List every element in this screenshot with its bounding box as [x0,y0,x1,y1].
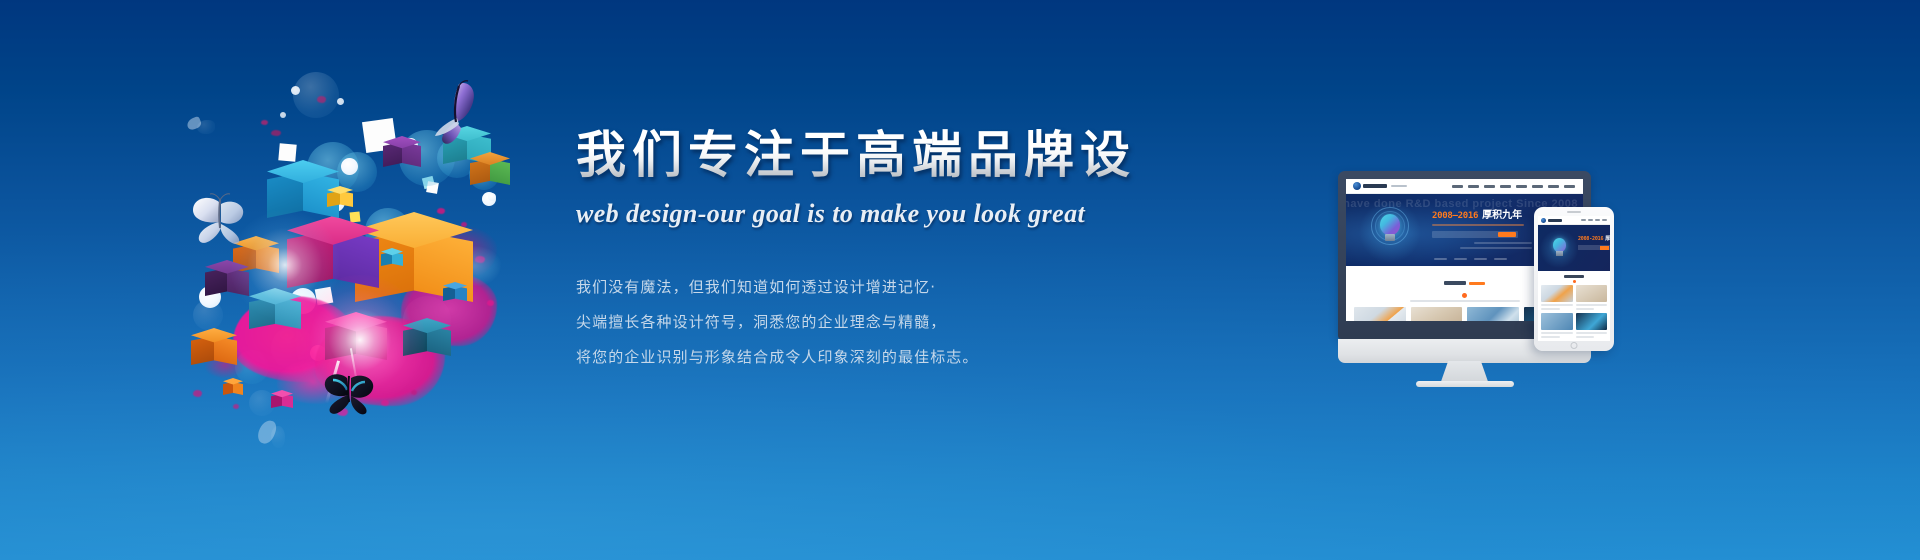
cube-tiny-blue [443,282,467,308]
paint-droplet [233,404,239,409]
hero-slogan: 厚积九年 [1482,210,1522,221]
phone-home-button[interactable] [1571,342,1578,349]
logo-mark-icon [1541,218,1546,223]
bulb-neck [1556,251,1563,256]
menu-item[interactable] [1468,185,1479,188]
paint-droplet [487,300,494,306]
logo-wordmark [1363,184,1387,188]
butterfly-icon [423,78,487,148]
bulb-neck [1385,234,1395,241]
mobile-card-image [1541,285,1573,302]
hero-pagination-dot[interactable] [1454,258,1467,260]
mobile-card-title [1576,332,1608,334]
logo-mark-icon [1353,182,1361,190]
monitor-stand-neck [1441,361,1489,383]
menu-item[interactable] [1602,219,1607,221]
bokeh-circle [337,98,344,105]
site-logo [1353,182,1407,190]
mobile-card[interactable] [1541,313,1573,338]
cube-orange-lower [191,328,237,378]
description-line: 尖端擅长各种设计符号，洞悉您的企业理念与精髓， [576,310,1136,334]
hero-meta-line [1460,247,1532,249]
mobile-card-image [1576,313,1608,330]
bokeh-circle [341,158,358,175]
hero-banner: 我们专注于高端品牌设计 web design-our goal is to ma… [0,0,1920,560]
cube-purple-small [383,136,421,178]
site-navbar [1346,179,1583,194]
mobile-section-heading [1564,275,1584,278]
mobile-card-desc [1541,308,1560,310]
phone-screen: 2008-2016厚积九年 [1538,216,1610,341]
mobile-card[interactable] [1576,285,1608,310]
bulb-body [1553,238,1566,252]
page-title: 我们专注于高端品牌设计 [576,125,1136,185]
monitor-stand-base [1416,381,1514,387]
paint-droplet [317,96,326,103]
device-mockups: We have done R&D based project Since 200… [1330,160,1660,380]
menu-item[interactable] [1484,185,1495,188]
description-line: 将您的企业识别与形象结合成令人印象深刻的最佳标志。 [576,345,1136,369]
bokeh-circle [293,72,339,118]
cube-green [470,152,510,196]
lightbulb-graphic [1546,233,1572,263]
paint-droplet [411,390,417,395]
site-menu[interactable] [1452,185,1575,188]
mobile-hero-years-value: 2008-2016 [1578,236,1603,242]
phone-speaker [1567,211,1581,213]
bokeh-circle [280,112,286,118]
description-line: 我们没有魔法，但我们知道如何透过设计增进记忆· [576,275,1136,299]
menu-item[interactable] [1532,185,1543,188]
hero-years: 2008—2016厚积九年 [1432,210,1532,222]
section-accent-dot [1462,293,1467,298]
mobile-card-title [1541,332,1573,334]
white-square [278,143,296,161]
bokeh-circle [291,86,300,95]
mobile-hero-text: 2008-2016厚积九年 [1578,235,1610,250]
cube-tiny-yellow [327,186,353,214]
iphone-mockup: 2008-2016厚积九年 [1534,207,1614,351]
hero-years-value: 2008—2016 [1432,211,1478,221]
mobile-hero-cta-row[interactable] [1578,245,1610,250]
mobile-card-title [1576,304,1608,306]
mobile-card-image [1576,285,1608,302]
abstract-artwork [175,60,575,440]
butterfly-icon [321,368,379,418]
hero-pagination-dot[interactable] [1434,258,1447,260]
hero-text-block: 2008—2016厚积九年 [1432,210,1532,252]
cube-tiny-orange [223,378,243,400]
case-thumbnail[interactable] [1411,307,1463,321]
mobile-section-accent-dot [1573,280,1576,283]
cube-tiny-magenta [271,390,293,414]
mobile-card-desc [1576,336,1595,338]
mobile-hero-cta-button[interactable] [1600,246,1609,250]
hero-meta [1432,242,1532,249]
bulb-body [1380,214,1400,235]
menu-item[interactable] [1588,219,1593,221]
hero-meta-line [1474,242,1532,244]
logo-tagline [1391,185,1407,187]
mobile-section-title [1538,271,1610,283]
logo-wordmark [1548,219,1562,222]
mobile-card-title [1541,304,1573,306]
floating-orange-cube [1502,280,1542,322]
paint-droplet [271,130,281,136]
mobile-card-desc [1541,336,1560,338]
hero-subtitle-bar [1432,224,1524,226]
mobile-card-grid [1538,285,1610,338]
menu-item[interactable] [1500,185,1511,188]
banner-copy: 我们专注于高端品牌设计 web design-our goal is to ma… [576,125,1136,380]
case-thumbnail[interactable] [1354,307,1406,321]
section-title-en [1469,282,1485,285]
hero-cta-button[interactable] [1498,232,1516,237]
paint-droplet [261,120,268,125]
menu-item[interactable] [1452,185,1463,188]
menu-item[interactable] [1581,219,1586,221]
section-title-cn [1444,281,1466,285]
hero-cta-row[interactable] [1432,231,1518,238]
menu-item[interactable] [1548,185,1559,188]
menu-item[interactable] [1564,185,1575,188]
mobile-card-image [1541,313,1573,330]
mobile-hero-banner: 2008-2016厚积九年 [1538,225,1610,271]
hero-pagination-dot[interactable] [1494,258,1507,260]
mobile-menu[interactable] [1581,219,1607,221]
mobile-card[interactable] [1541,285,1573,310]
menu-item[interactable] [1516,185,1527,188]
hero-pagination-dot[interactable] [1474,258,1487,260]
hero-pagination[interactable] [1434,258,1507,260]
cube-tiny-cyan [381,248,403,272]
description-paragraph: 我们没有魔法，但我们知道如何透过设计增进记忆· 尖端擅长各种设计符号，洞悉您的企… [576,275,1136,369]
mobile-hero-slogan: 厚积九年 [1605,236,1610,242]
lightbulb-graphic [1370,206,1410,256]
page-subtitle: web design-our goal is to make you look … [576,199,1136,229]
menu-item[interactable] [1595,219,1600,221]
paint-droplet [193,390,202,397]
mobile-card[interactable] [1576,313,1608,338]
mobile-card-desc [1576,308,1595,310]
butterfly-icon [189,192,259,250]
mobile-navbar [1538,216,1610,225]
mobile-hero-years: 2008-2016厚积九年 [1578,235,1610,242]
